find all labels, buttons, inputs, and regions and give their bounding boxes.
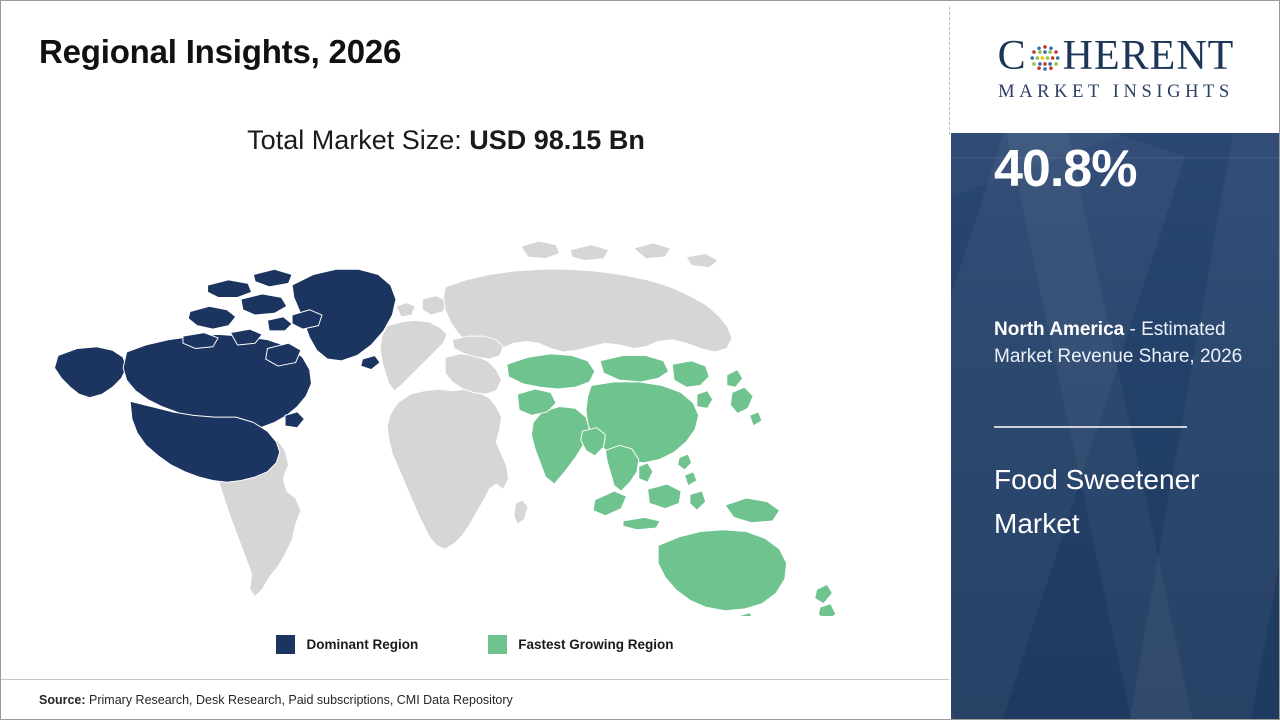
legend-item-fastest-growing: Fastest Growing Region: [488, 635, 673, 654]
map-legend: Dominant Region Fastest Growing Region: [1, 635, 949, 654]
regional-insights-infographic: Regional Insights, 2026 Total Market Siz…: [0, 0, 1280, 720]
stat-divider: [994, 426, 1187, 428]
legend-item-dominant: Dominant Region: [276, 635, 418, 654]
stat-percent-value: 40.8%: [994, 143, 1136, 195]
page-title: Regional Insights, 2026: [39, 33, 401, 71]
total-market-size-value: USD 98.15 Bn: [469, 125, 645, 155]
logo-letter-c: C: [998, 35, 1027, 77]
square-swatch-icon: [488, 635, 507, 654]
globe-dots-svg: [1028, 41, 1062, 75]
source-note: Source: Primary Research, Desk Research,…: [39, 693, 513, 707]
stat-region-name: North America: [994, 319, 1124, 340]
total-market-size: Total Market Size: USD 98.15 Bn: [1, 125, 891, 156]
logo-word-herent: HERENT: [1063, 35, 1235, 77]
vertical-dashed-divider: [949, 7, 950, 135]
legend-label-fastest-growing: Fastest Growing Region: [518, 637, 673, 652]
source-label: Source:: [39, 693, 86, 707]
stat-panel: 40.8% North America - Estimated Market R…: [951, 133, 1280, 719]
square-swatch-icon: [276, 635, 295, 654]
total-market-size-label: Total Market Size:: [247, 125, 469, 155]
logo-tagline: MARKET INSIGHTS: [998, 82, 1234, 103]
logo-wordmark: C: [998, 32, 1235, 80]
footer-divider: [1, 679, 949, 680]
brand-logo: C: [951, 1, 1280, 133]
left-content-pane: Regional Insights, 2026 Total Market Siz…: [1, 1, 949, 719]
stat-description: North America - Estimated Market Revenue…: [994, 317, 1266, 371]
globe-dots-icon: [1028, 41, 1062, 75]
map-region-north-america: [54, 269, 395, 482]
market-name: Food Sweetener Market: [994, 458, 1244, 546]
legend-label-dominant: Dominant Region: [306, 637, 418, 652]
source-text: Primary Research, Desk Research, Paid su…: [86, 693, 513, 707]
sidebar-panel: C: [951, 1, 1280, 719]
world-map-svg: [21, 176, 931, 616]
map-region-asia-pacific: [507, 354, 836, 616]
world-map: [21, 176, 931, 616]
